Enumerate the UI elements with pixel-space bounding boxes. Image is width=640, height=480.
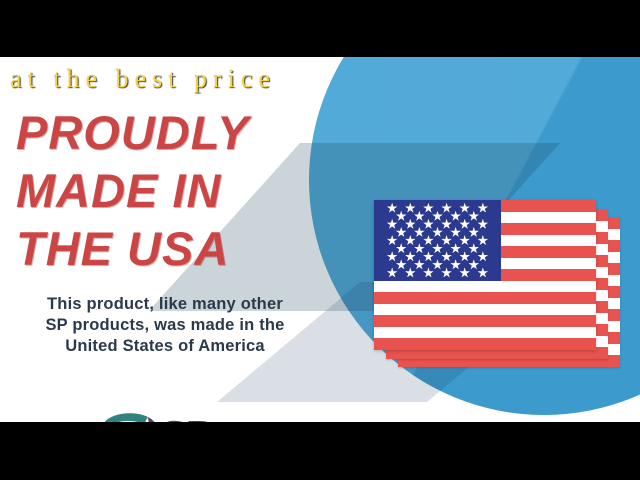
headline-line-2: MADE IN [0, 160, 330, 218]
flag-star [414, 227, 425, 238]
flag-star [387, 235, 398, 246]
flag-star [468, 227, 479, 238]
text-block: PROUDLY MADE IN THE USA This product, li… [0, 57, 330, 357]
flag-star [432, 259, 443, 270]
flag-star [432, 243, 443, 254]
flag-star [468, 211, 479, 222]
flag-star [423, 267, 434, 278]
flag-star [387, 251, 398, 262]
letterbox-top [0, 0, 640, 57]
flag-star [405, 219, 416, 230]
flag-stripe [374, 315, 596, 327]
headline-line-3: THE USA [0, 218, 330, 276]
flag-star [396, 243, 407, 254]
flag-star [396, 211, 407, 222]
flag-star [450, 259, 461, 270]
body-paragraph: This product, like many other SP product… [0, 276, 330, 357]
flag-star [423, 251, 434, 262]
flag-star [441, 235, 452, 246]
flag-star [414, 259, 425, 270]
flag-star [441, 251, 452, 262]
video-player-stage: PROUDLY MADE IN THE USA This product, li… [0, 0, 640, 480]
flag-star [459, 251, 470, 262]
flag-stripe [374, 292, 596, 304]
flag-star [477, 235, 488, 246]
flag-star [459, 267, 470, 278]
letterbox-bottom [0, 422, 640, 480]
flag-star [477, 203, 488, 214]
flag-star [432, 211, 443, 222]
flag-star [405, 203, 416, 214]
flag-star [477, 251, 488, 262]
flag-star [405, 235, 416, 246]
flag-star [477, 219, 488, 230]
flag-star [477, 267, 488, 278]
caption-text: at the best price [10, 64, 276, 94]
flag-star [441, 267, 452, 278]
flag-star [423, 203, 434, 214]
flag-star [459, 203, 470, 214]
flag-star [423, 219, 434, 230]
sp-logo-watermark-icon: SP [86, 409, 254, 422]
flag-star [414, 243, 425, 254]
body-line-2: SP products, was made in the [18, 315, 312, 336]
flag-star [387, 267, 398, 278]
flag-star [432, 227, 443, 238]
flag-stripe [374, 338, 596, 350]
flag-star [459, 235, 470, 246]
flag-star [387, 219, 398, 230]
flag-star [423, 235, 434, 246]
flag-canton [374, 200, 501, 281]
flag-star [450, 211, 461, 222]
flag-star [459, 219, 470, 230]
video-frame: PROUDLY MADE IN THE USA This product, li… [0, 57, 640, 422]
flag-star [396, 227, 407, 238]
flag-star [414, 211, 425, 222]
body-line-3: United States of America [18, 336, 312, 357]
flag-star [405, 267, 416, 278]
flag-star [468, 259, 479, 270]
flag-star [405, 251, 416, 262]
flag-star [468, 243, 479, 254]
usa-flag-icon [374, 200, 596, 350]
flag-star [450, 227, 461, 238]
flag-star [387, 203, 398, 214]
flag-star [441, 203, 452, 214]
flag-star [441, 219, 452, 230]
flag-star [450, 243, 461, 254]
body-line-1: This product, like many other [18, 294, 312, 315]
flag-star [396, 259, 407, 270]
svg-text:SP: SP [158, 410, 213, 422]
